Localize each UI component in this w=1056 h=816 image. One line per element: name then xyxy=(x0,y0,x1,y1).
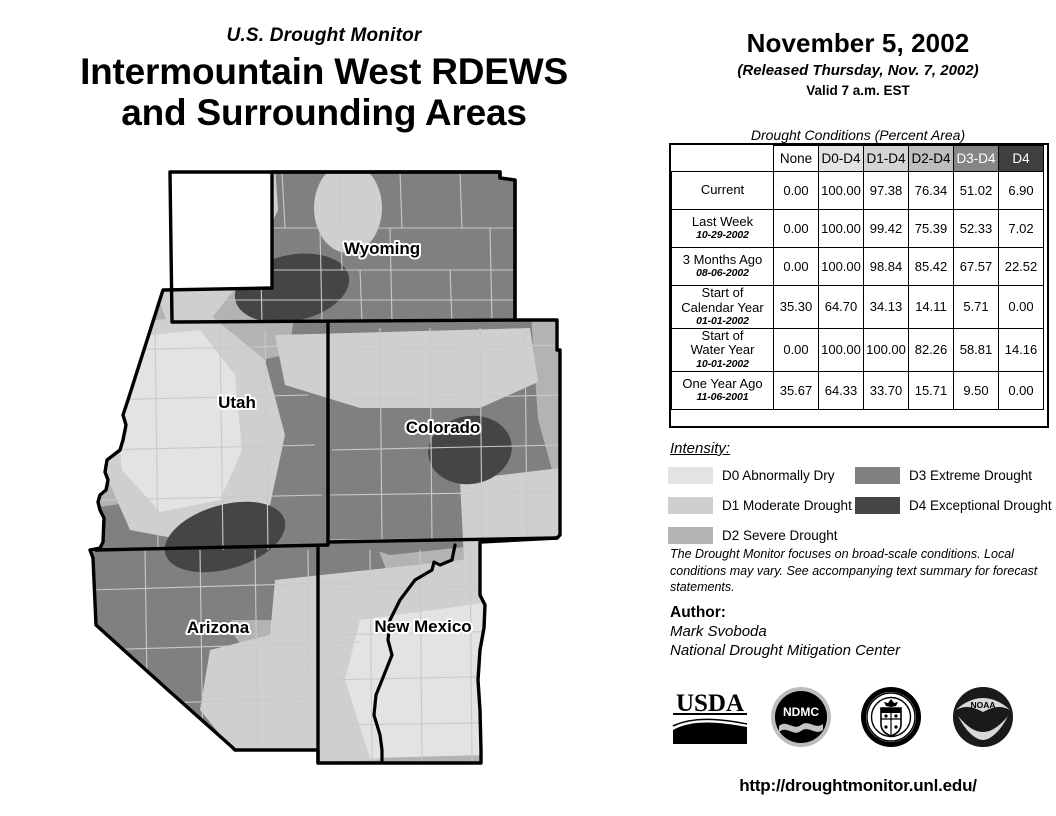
cell-d2d4: 75.39 xyxy=(909,210,954,248)
cell-d3d4: 52.33 xyxy=(954,210,999,248)
table-row: Start of Water Year 10-01-2002 0.00 100.… xyxy=(672,328,1044,371)
cell-d1d4: 99.42 xyxy=(864,210,909,248)
table-row: Start of Calendar Year 01-01-2002 35.30 … xyxy=(672,286,1044,329)
cell-d3d4: 58.81 xyxy=(954,328,999,371)
row-label-start-calendar-year: Start of Calendar Year 01-01-2002 xyxy=(672,286,774,329)
row-label-start-water-year: Start of Water Year 10-01-2002 xyxy=(672,328,774,371)
cell-d0d4: 100.00 xyxy=(819,328,864,371)
col-header-d0-d4: D0-D4 xyxy=(819,146,864,172)
cell-d0d4: 64.70 xyxy=(819,286,864,329)
row-label-sub: 10-29-2002 xyxy=(672,230,773,242)
row-label-text: Start of Calendar Year xyxy=(681,285,763,315)
legend-label-d3: D3 Extreme Drought xyxy=(909,468,1032,483)
report-date: November 5, 2002 xyxy=(660,28,1056,59)
cell-d2d4: 82.26 xyxy=(909,328,954,371)
region-title: Intermountain West RDEWS and Surrounding… xyxy=(0,51,648,134)
valid-time: Valid 7 a.m. EST xyxy=(660,83,1056,98)
date-block: November 5, 2002 (Released Thursday, Nov… xyxy=(660,28,1056,98)
cell-d1d4: 100.00 xyxy=(864,328,909,371)
cell-d4: 14.16 xyxy=(999,328,1044,371)
legend-item-d4: D4 Exceptional Drought xyxy=(855,494,1052,516)
row-label-sub: 08-06-2002 xyxy=(672,268,773,280)
row-label-last-week: Last Week 10-29-2002 xyxy=(672,210,774,248)
cell-none: 35.67 xyxy=(774,371,819,409)
ndmc-logo: NDMC xyxy=(770,686,832,748)
legend-column-right: D3 Extreme Drought D4 Exceptional Drough… xyxy=(855,464,1052,524)
drought-monitor-page: U.S. Drought Monitor Intermountain West … xyxy=(0,0,1056,816)
legend-label-d1: D1 Moderate Drought xyxy=(722,498,852,513)
program-title: U.S. Drought Monitor xyxy=(0,26,648,47)
cell-d4: 0.00 xyxy=(999,286,1044,329)
usda-logo-text: USDA xyxy=(676,690,744,717)
cell-none: 35.30 xyxy=(774,286,819,329)
col-header-d3-d4: D3-D4 xyxy=(954,146,999,172)
d1-swatch xyxy=(668,497,713,514)
cell-d2d4: 14.11 xyxy=(909,286,954,329)
cell-d4: 7.02 xyxy=(999,210,1044,248)
disclaimer-text: The Drought Monitor focuses on broad-sca… xyxy=(670,546,1040,596)
cell-d2d4: 85.42 xyxy=(909,248,954,286)
table-row: Current 0.00 100.00 97.38 76.34 51.02 6.… xyxy=(672,172,1044,210)
legend-item-d0: D0 Abnormally Dry xyxy=(668,464,852,486)
state-label-wyoming: Wyoming xyxy=(344,239,420,258)
row-label-sub: 01-01-2002 xyxy=(672,316,773,328)
d0-swatch xyxy=(668,467,713,484)
state-label-colorado: Colorado xyxy=(406,418,481,437)
author-heading: Author: xyxy=(670,604,1040,622)
row-label-text: Start of Water Year xyxy=(691,328,755,358)
table-row: One Year Ago 11-06-2001 35.67 64.33 33.7… xyxy=(672,371,1044,409)
cell-d0d4: 100.00 xyxy=(819,248,864,286)
col-header-none: None xyxy=(774,146,819,172)
col-header-d1-d4: D1-D4 xyxy=(864,146,909,172)
website-url: http://droughtmonitor.unl.edu/ xyxy=(660,776,1056,796)
noaa-logo-text: NOAA xyxy=(970,700,995,710)
region-title-line1: Intermountain West RDEWS xyxy=(80,51,568,92)
legend-item-d1: D1 Moderate Drought xyxy=(668,494,852,516)
ndmc-logo-text: NDMC xyxy=(783,705,819,719)
intensity-heading: Intensity: xyxy=(670,440,730,457)
cell-d3d4: 67.57 xyxy=(954,248,999,286)
row-label-one-year-ago: One Year Ago 11-06-2001 xyxy=(672,371,774,409)
map-panel: U.S. Drought Monitor Intermountain West … xyxy=(0,0,660,816)
drought-conditions-table: None D0-D4 D1-D4 D2-D4 D3-D4 D4 Current … xyxy=(671,145,1044,410)
cell-d3d4: 51.02 xyxy=(954,172,999,210)
legend-column-left: D0 Abnormally Dry D1 Moderate Drought D2… xyxy=(668,464,852,554)
d4-swatch xyxy=(855,497,900,514)
usda-logo: USDA xyxy=(670,686,750,748)
author-organization: National Drought Mitigation Center xyxy=(670,641,1040,660)
table-caption: Drought Conditions (Percent Area) xyxy=(660,127,1056,143)
col-header-d4: D4 xyxy=(999,146,1044,172)
title-block: U.S. Drought Monitor Intermountain West … xyxy=(0,26,648,134)
table-header-row: None D0-D4 D1-D4 D2-D4 D3-D4 D4 xyxy=(672,146,1044,172)
cell-d0d4: 64.33 xyxy=(819,371,864,409)
table-row: Last Week 10-29-2002 0.00 100.00 99.42 7… xyxy=(672,210,1044,248)
cell-d0d4: 100.00 xyxy=(819,210,864,248)
cell-d2d4: 76.34 xyxy=(909,172,954,210)
row-label-sub: 11-06-2001 xyxy=(672,392,773,404)
cell-d1d4: 34.13 xyxy=(864,286,909,329)
cell-none: 0.00 xyxy=(774,248,819,286)
author-block: Author: Mark Svoboda National Drought Mi… xyxy=(670,604,1040,660)
row-label-current: Current xyxy=(672,172,774,210)
cell-d1d4: 97.38 xyxy=(864,172,909,210)
cell-none: 0.00 xyxy=(774,172,819,210)
cell-d0d4: 100.00 xyxy=(819,172,864,210)
state-label-utah: Utah xyxy=(218,393,256,412)
cell-d3d4: 9.50 xyxy=(954,371,999,409)
noaa-logo: NOAA xyxy=(952,686,1014,748)
cell-d4: 22.52 xyxy=(999,248,1044,286)
row-label-sub: 10-01-2002 xyxy=(672,359,773,371)
cell-d3d4: 5.71 xyxy=(954,286,999,329)
row-label-text: 3 Months Ago xyxy=(683,252,763,267)
legend-item-d3: D3 Extreme Drought xyxy=(855,464,1052,486)
row-label-text: Last Week xyxy=(692,214,753,229)
logo-row: USDA NDMC xyxy=(660,686,1056,752)
cell-none: 0.00 xyxy=(774,328,819,371)
release-date: (Released Thursday, Nov. 7, 2002) xyxy=(660,62,1056,79)
table-row: 3 Months Ago 08-06-2002 0.00 100.00 98.8… xyxy=(672,248,1044,286)
d2-swatch xyxy=(668,527,713,544)
corner-cell xyxy=(672,146,774,172)
row-label-text: Current xyxy=(701,182,744,197)
map-svg: Wyoming Utah Colorado Arizona New Mexico xyxy=(60,150,650,800)
row-label-3-months-ago: 3 Months Ago 08-06-2002 xyxy=(672,248,774,286)
cell-d4: 6.90 xyxy=(999,172,1044,210)
doc-seal-logo xyxy=(860,686,922,748)
drought-map: Wyoming Utah Colorado Arizona New Mexico xyxy=(60,150,650,800)
cell-none: 0.00 xyxy=(774,210,819,248)
d3-swatch xyxy=(855,467,900,484)
legend-label-d0: D0 Abnormally Dry xyxy=(722,468,835,483)
state-label-new-mexico: New Mexico xyxy=(374,617,471,636)
cell-d2d4: 15.71 xyxy=(909,371,954,409)
cell-d1d4: 98.84 xyxy=(864,248,909,286)
legend-label-d2: D2 Severe Drought xyxy=(722,528,838,543)
legend-item-d2: D2 Severe Drought xyxy=(668,524,852,546)
legend-label-d4: D4 Exceptional Drought xyxy=(909,498,1052,513)
col-header-d2-d4: D2-D4 xyxy=(909,146,954,172)
author-name: Mark Svoboda xyxy=(670,622,1040,641)
row-label-text: One Year Ago xyxy=(682,376,762,391)
state-label-arizona: Arizona xyxy=(187,618,250,637)
region-title-line2: and Surrounding Areas xyxy=(0,92,648,133)
cell-d4: 0.00 xyxy=(999,371,1044,409)
cell-d1d4: 33.70 xyxy=(864,371,909,409)
